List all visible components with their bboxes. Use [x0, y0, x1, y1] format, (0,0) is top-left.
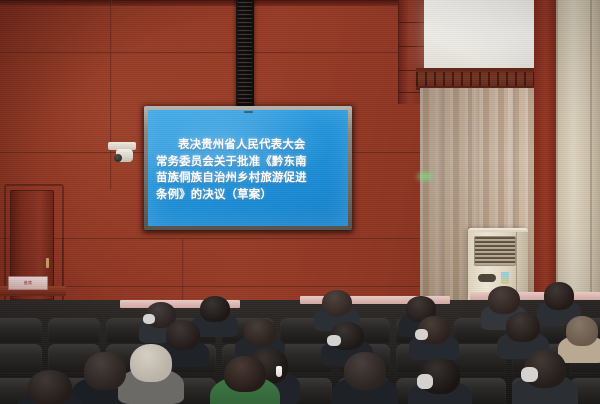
screen-line-1: 表决贵州省人民代表大会	[156, 136, 341, 153]
seat-back	[0, 344, 42, 374]
audience-member-head	[130, 344, 172, 382]
audience-member-head	[84, 352, 126, 390]
audience-member-head	[244, 318, 276, 346]
audience-member-head	[344, 352, 386, 390]
ac-logo	[478, 274, 496, 282]
wall-speaker-column	[236, 0, 254, 108]
audience-member-head	[166, 320, 200, 350]
audience-member-head	[28, 370, 72, 404]
screen-line-2: 常务委员会关于批准《黔东南	[156, 153, 341, 170]
light-column	[556, 0, 600, 298]
audience-member-head	[506, 312, 540, 342]
projection-screen: 表决贵州省人民代表大会 常务委员会关于批准《黔东南 苗族侗族自治州乡村旅游促进 …	[148, 110, 348, 226]
audience-member-head	[488, 286, 520, 314]
seat-back	[0, 318, 42, 344]
security-camera-icon	[108, 142, 136, 166]
screen-line-3: 苗族侗族自治州乡村旅游促进	[156, 169, 341, 186]
audience-member-head	[200, 296, 230, 322]
nameplate-label: 座席	[24, 280, 33, 286]
audience-member-head	[224, 356, 266, 392]
face-mask	[415, 329, 428, 340]
audience-member-head	[566, 316, 598, 346]
face-mask	[327, 335, 341, 346]
face-mask	[521, 367, 538, 382]
screen-sensor-dot	[244, 111, 253, 113]
face-mask	[417, 374, 433, 388]
green-exit-glow-icon	[414, 170, 436, 183]
audience-member-head	[544, 282, 574, 310]
audience-member-head	[322, 290, 352, 316]
teacup	[276, 366, 282, 377]
ac-top-panel	[468, 228, 528, 232]
screen-text-block: 表决贵州省人民代表大会 常务委员会关于批准《黔东南 苗族侗族自治州乡村旅游促进 …	[156, 136, 341, 202]
conference-hall-photo: 座席 表决贵州省人民代表大会 常务委员会关于批准《黔东南 苗族侗族自治州乡村旅游…	[0, 0, 600, 404]
door-knob[interactable]	[46, 258, 49, 268]
screen-line-4: 条例》的决议（草案）	[156, 186, 341, 203]
ac-vent-grille	[474, 236, 516, 266]
nameplate: 座席	[8, 276, 48, 290]
seat-back	[48, 318, 100, 344]
wall-seam-vertical	[182, 238, 184, 304]
face-mask	[143, 314, 155, 324]
ac-label-sticker	[501, 272, 509, 284]
